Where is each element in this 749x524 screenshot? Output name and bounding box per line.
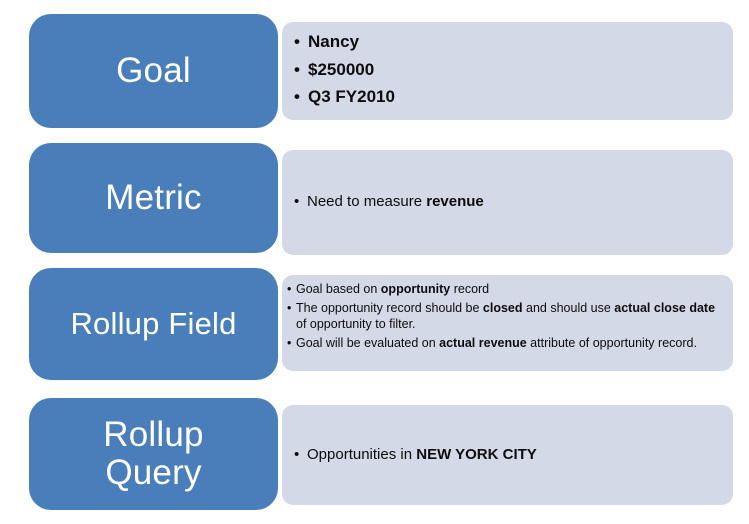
row-label-rollup-query-line-1: Rollup: [37, 416, 270, 454]
row-label-metric: Metric: [29, 143, 278, 253]
row-content-rollup-field: Goal based on opportunity record The opp…: [282, 275, 733, 371]
row-label-rollup-field: Rollup Field: [29, 268, 278, 380]
row-label-rollup-query-line-2: Query: [37, 454, 270, 492]
list-item: Need to measure revenue: [294, 192, 723, 212]
bullet-list-goal: Nancy $250000 Q3 FY2010: [294, 28, 723, 111]
list-item: Goal will be evaluated on actual revenue…: [287, 335, 721, 352]
row-label-metric-text: Metric: [37, 179, 270, 217]
row-label-goal-text: Goal: [37, 52, 270, 90]
list-item: Opportunities in NEW YORK CITY: [294, 445, 723, 465]
list-item: $250000: [294, 56, 723, 84]
list-item: Q3 FY2010: [294, 83, 723, 111]
list-item: Nancy: [294, 28, 723, 56]
row-content-goal: Nancy $250000 Q3 FY2010: [282, 22, 733, 120]
goal-configuration-diagram: Goal Nancy $250000 Q3 FY2010 Metric Need…: [0, 0, 749, 524]
row-label-rollup-query: Rollup Query: [29, 398, 278, 510]
bullet-list-rollup-field: Goal based on opportunity record The opp…: [287, 281, 721, 354]
row-content-rollup-query: Opportunities in NEW YORK CITY: [282, 405, 733, 505]
list-item: The opportunity record should be closed …: [287, 300, 721, 333]
bullet-list-rollup-query: Opportunities in NEW YORK CITY: [294, 445, 723, 465]
list-item: Goal based on opportunity record: [287, 281, 721, 298]
bullet-list-metric: Need to measure revenue: [294, 192, 723, 212]
row-content-metric: Need to measure revenue: [282, 150, 733, 255]
row-label-rollup-field-text: Rollup Field: [37, 307, 270, 340]
row-label-goal: Goal: [29, 14, 278, 128]
